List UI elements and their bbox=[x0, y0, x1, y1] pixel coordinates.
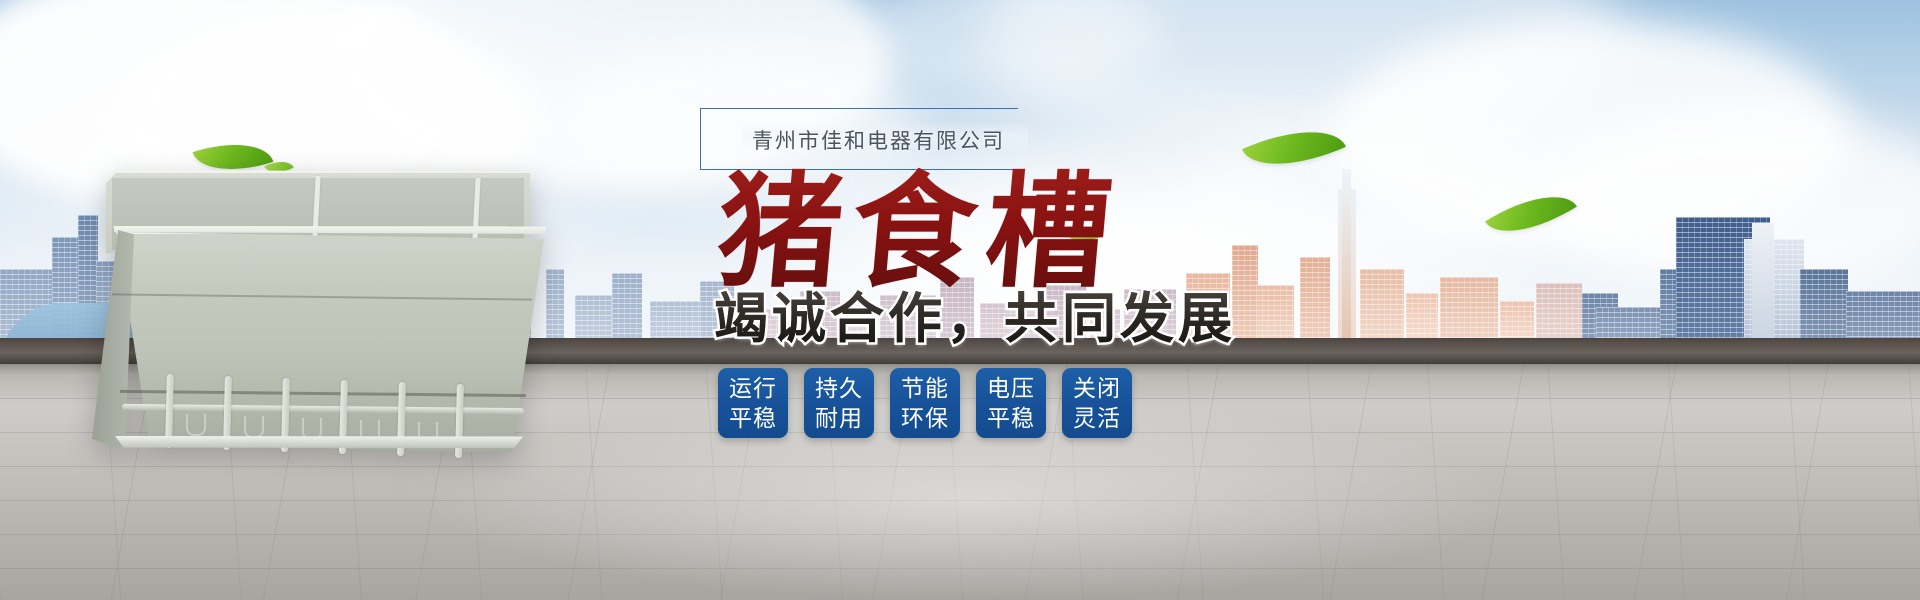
trough-feed-loop bbox=[244, 416, 264, 438]
company-name: 青州市佳和电器有限公司 bbox=[752, 125, 1005, 155]
badge-line-1: 节能 bbox=[901, 373, 949, 403]
feature-badge[interactable]: 关闭 灵活 bbox=[1062, 368, 1132, 438]
feature-badge[interactable]: 运行 平稳 bbox=[718, 368, 788, 438]
badge-line-1: 持久 bbox=[815, 373, 863, 403]
badge-line-2: 平稳 bbox=[729, 403, 777, 433]
badge-line-1: 关闭 bbox=[1073, 373, 1121, 403]
feature-badge-list: 运行 平稳 持久 耐用 节能 环保 电压 平稳 关闭 灵活 bbox=[718, 368, 1132, 438]
badge-line-2: 平稳 bbox=[987, 403, 1035, 433]
badge-line-1: 运行 bbox=[729, 373, 777, 403]
page-title: 猪食槽 bbox=[712, 168, 1283, 298]
feature-badge[interactable]: 电压 平稳 bbox=[976, 368, 1046, 438]
product-image-feeder-trough bbox=[78, 160, 548, 460]
subtitle: 竭诚合作，共同发展 bbox=[714, 288, 1314, 350]
badge-line-2: 环保 bbox=[901, 403, 949, 433]
badge-line-2: 灵活 bbox=[1073, 403, 1121, 433]
trough-base-rail bbox=[102, 436, 536, 448]
trough-left-side bbox=[92, 230, 134, 450]
feature-badge[interactable]: 持久 耐用 bbox=[804, 368, 874, 438]
trough-feed-loop bbox=[186, 414, 206, 436]
badge-line-2: 耐用 bbox=[815, 403, 863, 433]
feature-badge[interactable]: 节能 环保 bbox=[890, 368, 960, 438]
badge-line-1: 电压 bbox=[987, 373, 1035, 403]
promo-banner: 青州市佳和电器有限公司 猪食槽 竭诚合作，共同发展 竭诚合作，共同发展 运行 平… bbox=[0, 0, 1920, 600]
